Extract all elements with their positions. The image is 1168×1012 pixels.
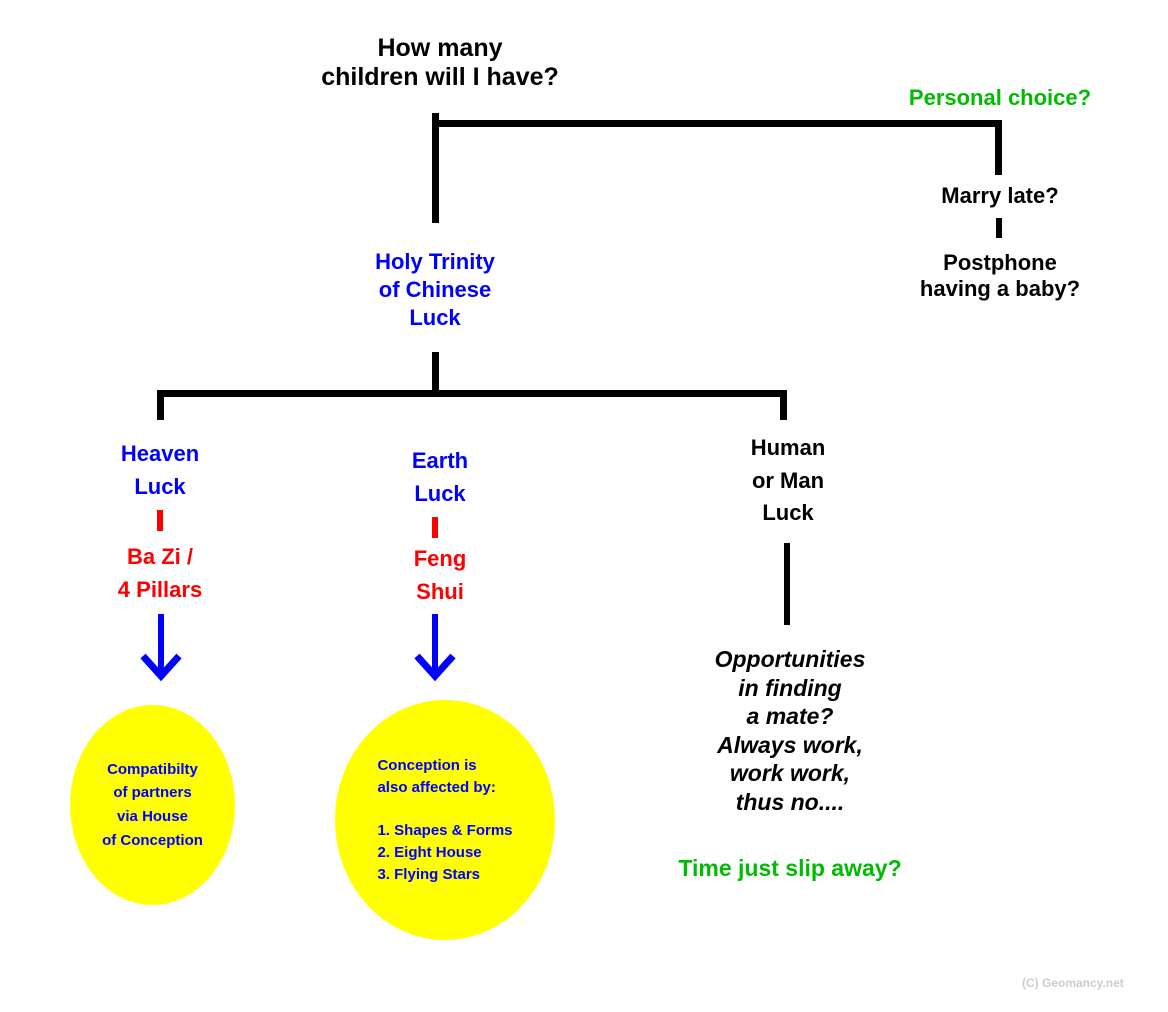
- connector-three-way-right-stub: [780, 390, 787, 420]
- circle-compatibility-text: Compatibilty of partners via House of Co…: [102, 758, 203, 853]
- circle-conception-text: Conception is also affected by: 1. Shape…: [377, 755, 512, 886]
- label-ba-zi: Ba Zi / 4 Pillars: [60, 540, 260, 606]
- diagram-canvas: How many children will I have? Personal …: [0, 0, 1168, 1012]
- label-heaven-luck: Heaven Luck: [60, 437, 260, 503]
- label-earth-luck: Earth Luck: [340, 444, 540, 510]
- label-marry-late: Marry late?: [880, 183, 1120, 209]
- label-feng-shui: Feng Shui: [340, 542, 540, 608]
- arrow-earth-to-circle: [409, 612, 461, 684]
- label-human-luck: Human or Man Luck: [688, 432, 888, 530]
- connector-top-horizontal: [432, 120, 1002, 127]
- connector-top-right-stub: [995, 120, 1002, 175]
- connector-three-way-left-stub: [157, 390, 164, 420]
- root-question: How many children will I have?: [300, 34, 580, 92]
- connector-heaven-to-bazi: [157, 510, 163, 531]
- arrow-heaven-to-circle: [135, 612, 187, 684]
- connector-earth-to-fengshui: [432, 517, 438, 538]
- connector-human-down: [784, 543, 790, 625]
- circle-compatibility: Compatibilty of partners via House of Co…: [70, 705, 235, 905]
- note-time-slip-away: Time just slip away?: [630, 855, 950, 882]
- label-postphone: Postphone having a baby?: [880, 250, 1120, 301]
- connector-marry-to-postphone: [996, 218, 1002, 238]
- copyright-footer: (C) Geomancy.net: [1022, 976, 1124, 990]
- circle-conception: Conception is also affected by: 1. Shape…: [335, 700, 555, 940]
- note-opportunities: Opportunities in finding a mate? Always …: [645, 645, 935, 816]
- label-personal-choice: Personal choice?: [840, 85, 1160, 111]
- label-holy-trinity: Holy Trinity of Chinese Luck: [330, 248, 540, 332]
- connector-top-left-stub: [432, 113, 439, 223]
- connector-three-way-horizontal: [157, 390, 787, 397]
